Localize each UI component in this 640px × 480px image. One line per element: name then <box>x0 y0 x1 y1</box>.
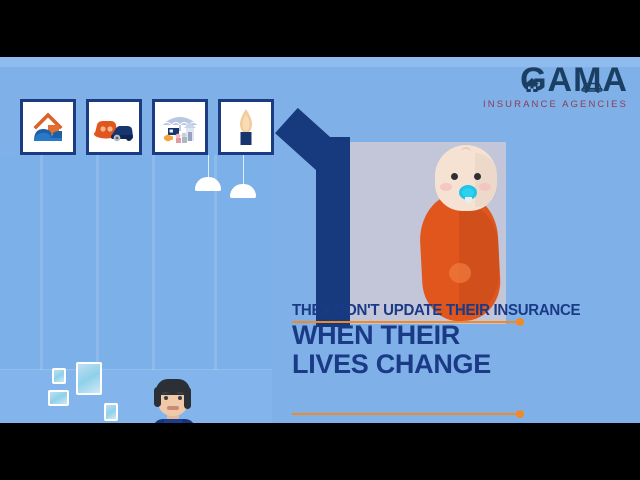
icon-box-car-collision <box>86 99 142 155</box>
letterbox-bar-top <box>0 0 640 57</box>
video-frame: GAMA INSURANCE AGENCIES <box>0 57 640 423</box>
headline-line-1: THEY DON'T UPDATE THEIR INSURANCE <box>292 303 622 319</box>
headline-line-3: LIVES CHANGE <box>292 351 632 378</box>
logo-tagline: INSURANCE AGENCIES <box>483 100 628 110</box>
wall-picture-frame <box>76 362 102 395</box>
headline-underline-dot <box>516 410 524 418</box>
baby-eye <box>474 173 481 180</box>
headline-block: THEY DON'T UPDATE THEIR INSURANCE WHEN T… <box>292 303 632 378</box>
icon-box-umbrella-family <box>152 99 208 155</box>
baby-cheek <box>479 183 491 191</box>
baby-blanket-knot <box>449 263 471 283</box>
fire-icon <box>226 105 266 149</box>
headline-underline <box>292 413 520 415</box>
baby-cheek <box>440 183 452 191</box>
icon-box-flood-home <box>20 99 76 155</box>
man-mouth <box>167 406 179 410</box>
letterbox-bar-bottom <box>0 423 640 480</box>
logo-wordmark: GAMA <box>483 63 628 97</box>
wall-stripe <box>152 155 155 370</box>
house-icon <box>524 77 540 93</box>
room-floor <box>0 370 272 423</box>
baby-illustration <box>415 145 505 327</box>
car-icon <box>581 80 603 94</box>
gama-logo: GAMA INSURANCE AGENCIES <box>483 63 628 110</box>
callout-number-one <box>272 137 364 327</box>
baby-hair-curl <box>461 147 471 156</box>
car-collision-icon <box>92 107 136 147</box>
man-hair-side <box>184 387 191 409</box>
icon-box-fire <box>218 99 274 155</box>
headline-line-2: WHEN THEIR <box>292 322 632 349</box>
man-eye <box>164 396 168 400</box>
number-one-stem <box>316 137 350 327</box>
pendant-lamp-cord <box>208 155 209 177</box>
man-hair-side <box>154 387 161 407</box>
pendant-lamp-cord <box>243 155 244 184</box>
video-player-stage: GAMA INSURANCE AGENCIES <box>0 0 640 480</box>
wall-stripe <box>96 155 99 370</box>
living-room-illustration <box>0 155 272 423</box>
flood-home-icon <box>28 107 68 147</box>
wall-picture-frame <box>48 390 69 406</box>
umbrella-family-icon <box>158 107 202 147</box>
character-worried-man <box>137 377 217 423</box>
wall-stripe <box>40 155 43 370</box>
wall-picture-frame <box>52 368 66 384</box>
baby-eye <box>451 173 458 180</box>
man-eye <box>178 396 182 400</box>
insurance-icon-row <box>20 99 274 155</box>
wall-picture-frame <box>104 403 118 421</box>
